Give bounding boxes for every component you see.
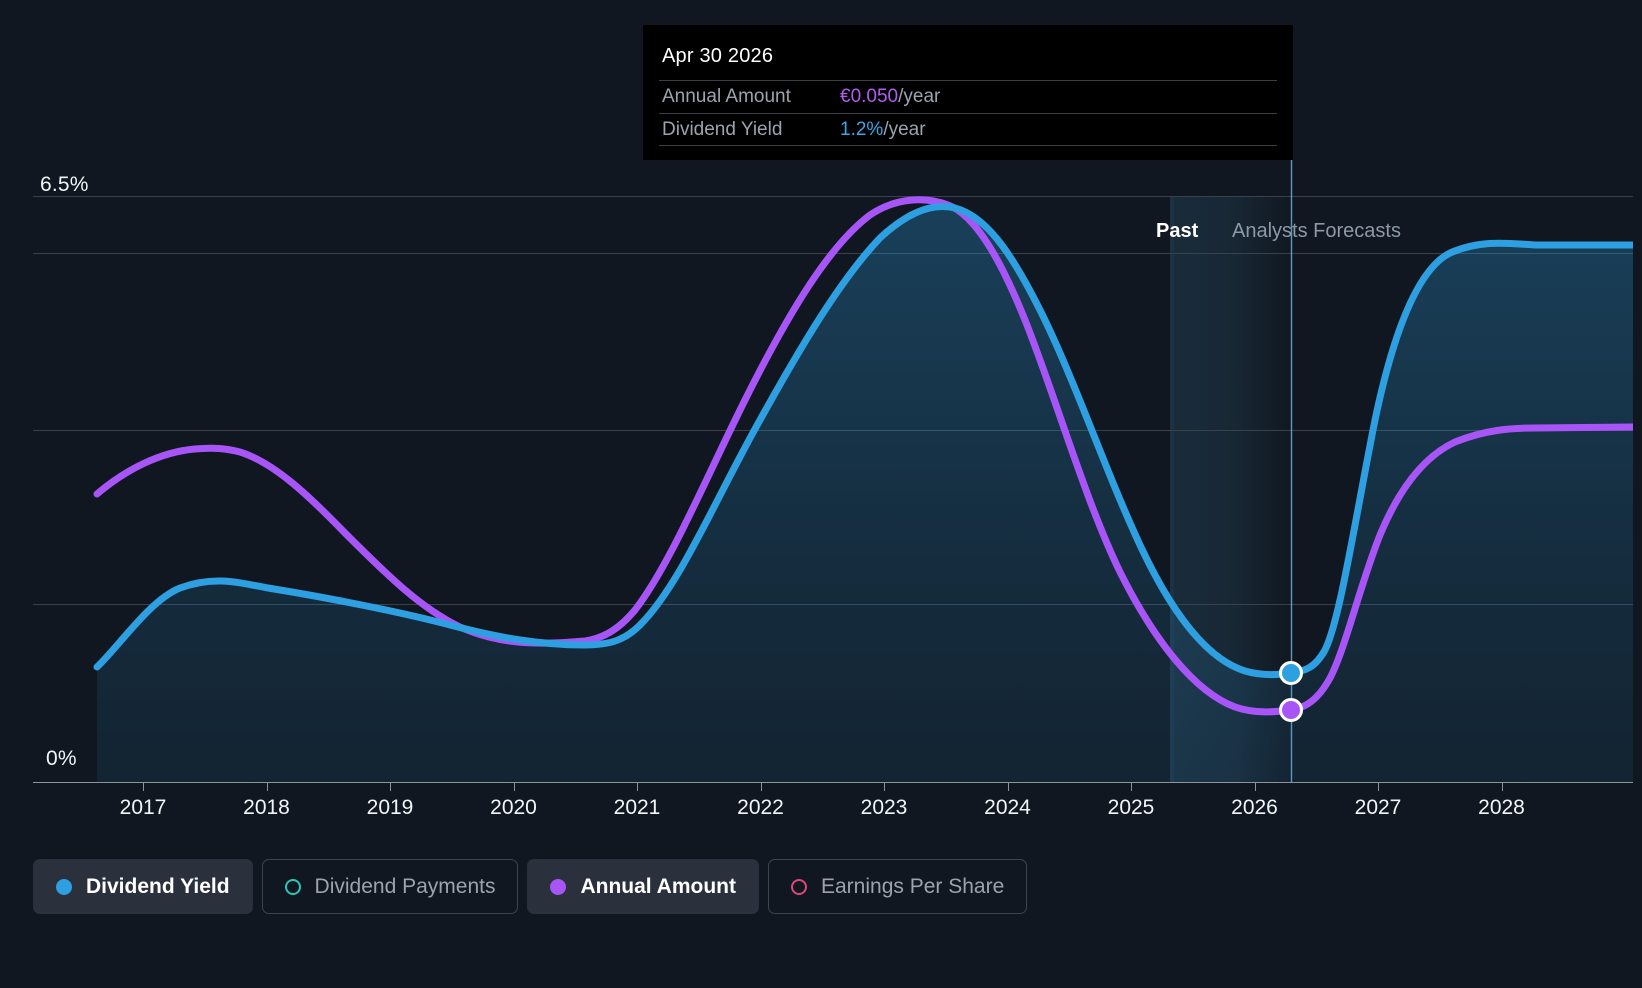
legend-label: Dividend Payments	[315, 875, 496, 899]
x-axis-line	[33, 782, 1633, 783]
tooltip-number-annual-amount: €0.050	[840, 86, 898, 107]
legend-label: Dividend Yield	[86, 875, 230, 899]
x-axis-tick	[761, 782, 762, 791]
x-axis-tick	[1008, 782, 1009, 791]
x-axis-tick	[1131, 782, 1132, 791]
legend-earnings-per-share[interactable]: Earnings Per Share	[768, 859, 1027, 914]
tooltip-value-annual-amount: €0.050/year	[840, 86, 940, 108]
x-axis-tick	[390, 782, 391, 791]
chart-legend: Dividend YieldDividend PaymentsAnnual Am…	[33, 859, 1027, 914]
x-axis-tick	[267, 782, 268, 791]
tooltip-date: Apr 30 2026	[659, 45, 1277, 80]
x-axis-tick-label-2020: 2020	[490, 796, 537, 820]
tooltip-unit-annual-amount: /year	[898, 86, 940, 107]
x-axis-tick	[143, 782, 144, 791]
x-axis-tick-label-2021: 2021	[614, 796, 661, 820]
x-axis-tick-label-2028: 2028	[1478, 796, 1525, 820]
x-axis-tick-label-2019: 2019	[367, 796, 414, 820]
tooltip-number-dividend-yield: 1.2%	[840, 119, 883, 140]
x-axis-tick-label-2022: 2022	[737, 796, 784, 820]
chart-tooltip: Apr 30 2026 Annual Amount €0.050/year Di…	[643, 25, 1293, 160]
legend-color-dot-icon	[791, 879, 807, 895]
tooltip-row-dividend-yield: Dividend Yield 1.2%/year	[659, 113, 1277, 146]
x-axis-tick-label-2025: 2025	[1108, 796, 1155, 820]
legend-color-dot-icon	[550, 879, 566, 895]
data-point-dividend-yield[interactable]	[1281, 663, 1302, 684]
analysts-forecasts-label: Analysts Forecasts	[1232, 220, 1401, 243]
legend-label: Annual Amount	[580, 875, 736, 899]
dividend-yield-chart-page: 6.5% 0% Past Analysts Forecasts 20172018…	[0, 0, 1642, 988]
legend-color-dot-icon	[56, 879, 72, 895]
x-axis-tick	[1255, 782, 1256, 791]
x-axis-tick-label-2024: 2024	[984, 796, 1031, 820]
x-axis-tick-label-2017: 2017	[120, 796, 167, 820]
tooltip-key-dividend-yield: Dividend Yield	[662, 119, 840, 141]
tooltip-value-dividend-yield: 1.2%/year	[840, 119, 926, 141]
legend-dividend-payments[interactable]: Dividend Payments	[262, 859, 519, 914]
legend-dividend-yield[interactable]: Dividend Yield	[33, 859, 253, 914]
y-axis-label-bottom: 0%	[46, 747, 77, 771]
y-axis-label-top: 6.5%	[40, 173, 89, 197]
tooltip-unit-dividend-yield: /year	[883, 119, 925, 140]
past-label: Past	[1156, 220, 1198, 243]
x-axis: 2017201820192020202120222023202420252026…	[33, 782, 1633, 830]
x-axis-tick-label-2023: 2023	[861, 796, 908, 820]
data-point-annual-amount[interactable]	[1281, 700, 1302, 721]
x-axis-tick	[884, 782, 885, 791]
x-axis-tick	[637, 782, 638, 791]
x-axis-tick-label-2018: 2018	[243, 796, 290, 820]
tooltip-key-annual-amount: Annual Amount	[662, 86, 840, 108]
legend-annual-amount[interactable]: Annual Amount	[527, 859, 759, 914]
legend-color-dot-icon	[285, 879, 301, 895]
x-axis-tick-label-2026: 2026	[1231, 796, 1278, 820]
x-axis-tick-label-2027: 2027	[1355, 796, 1402, 820]
x-axis-tick	[1378, 782, 1379, 791]
x-axis-tick	[1502, 782, 1503, 791]
legend-label: Earnings Per Share	[821, 875, 1004, 899]
tooltip-row-annual-amount: Annual Amount €0.050/year	[659, 80, 1277, 113]
x-axis-tick	[514, 782, 515, 791]
